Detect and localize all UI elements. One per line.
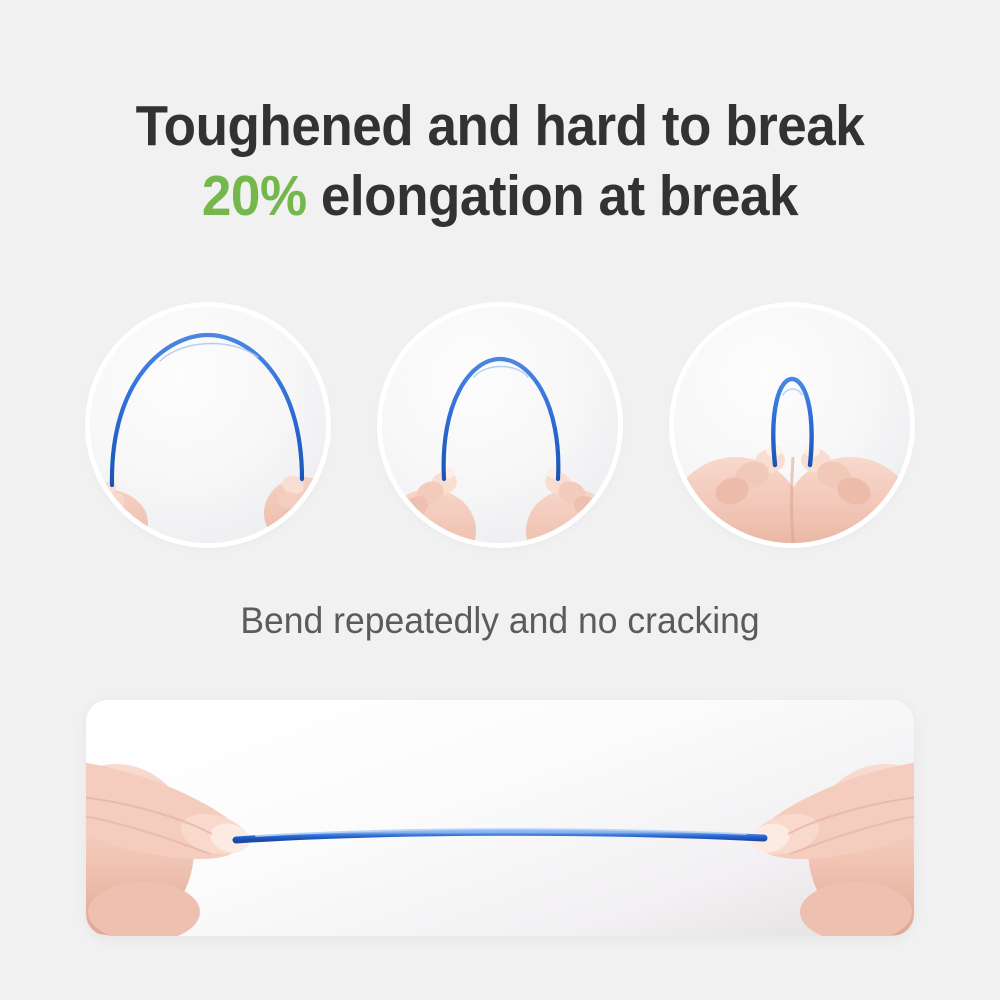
demo-caption: Bend repeatedly and no cracking bbox=[20, 600, 980, 642]
left-hand bbox=[384, 466, 476, 543]
headline-block: Toughened and hard to break 20% elongati… bbox=[0, 92, 1000, 231]
demo-circle-tight-loop bbox=[674, 307, 910, 543]
demo-circle-row bbox=[90, 307, 910, 543]
filament-arc bbox=[444, 359, 559, 479]
left-hand bbox=[674, 444, 802, 543]
demo-circle-narrow-arch bbox=[382, 307, 618, 543]
tight-loop-illustration bbox=[674, 307, 910, 543]
headline-line-2-rest: elongation at break bbox=[307, 164, 798, 228]
demo-circle-wide-arch bbox=[90, 307, 326, 543]
headline-line-1: Toughened and hard to break bbox=[35, 92, 965, 162]
wide-arch-illustration bbox=[90, 307, 326, 543]
narrow-arch-illustration bbox=[382, 307, 618, 543]
filament-arc bbox=[112, 335, 302, 485]
left-hand bbox=[86, 760, 253, 936]
right-hand bbox=[747, 760, 914, 936]
straight-filament-panel bbox=[86, 700, 914, 936]
right-hand bbox=[264, 473, 326, 543]
headline-accent-value: 20% bbox=[202, 164, 307, 228]
straight-filament-illustration bbox=[86, 700, 914, 936]
left-hand bbox=[90, 478, 148, 543]
right-hand bbox=[784, 444, 910, 543]
headline-line-2: 20% elongation at break bbox=[35, 162, 965, 232]
right-hand bbox=[526, 466, 618, 543]
